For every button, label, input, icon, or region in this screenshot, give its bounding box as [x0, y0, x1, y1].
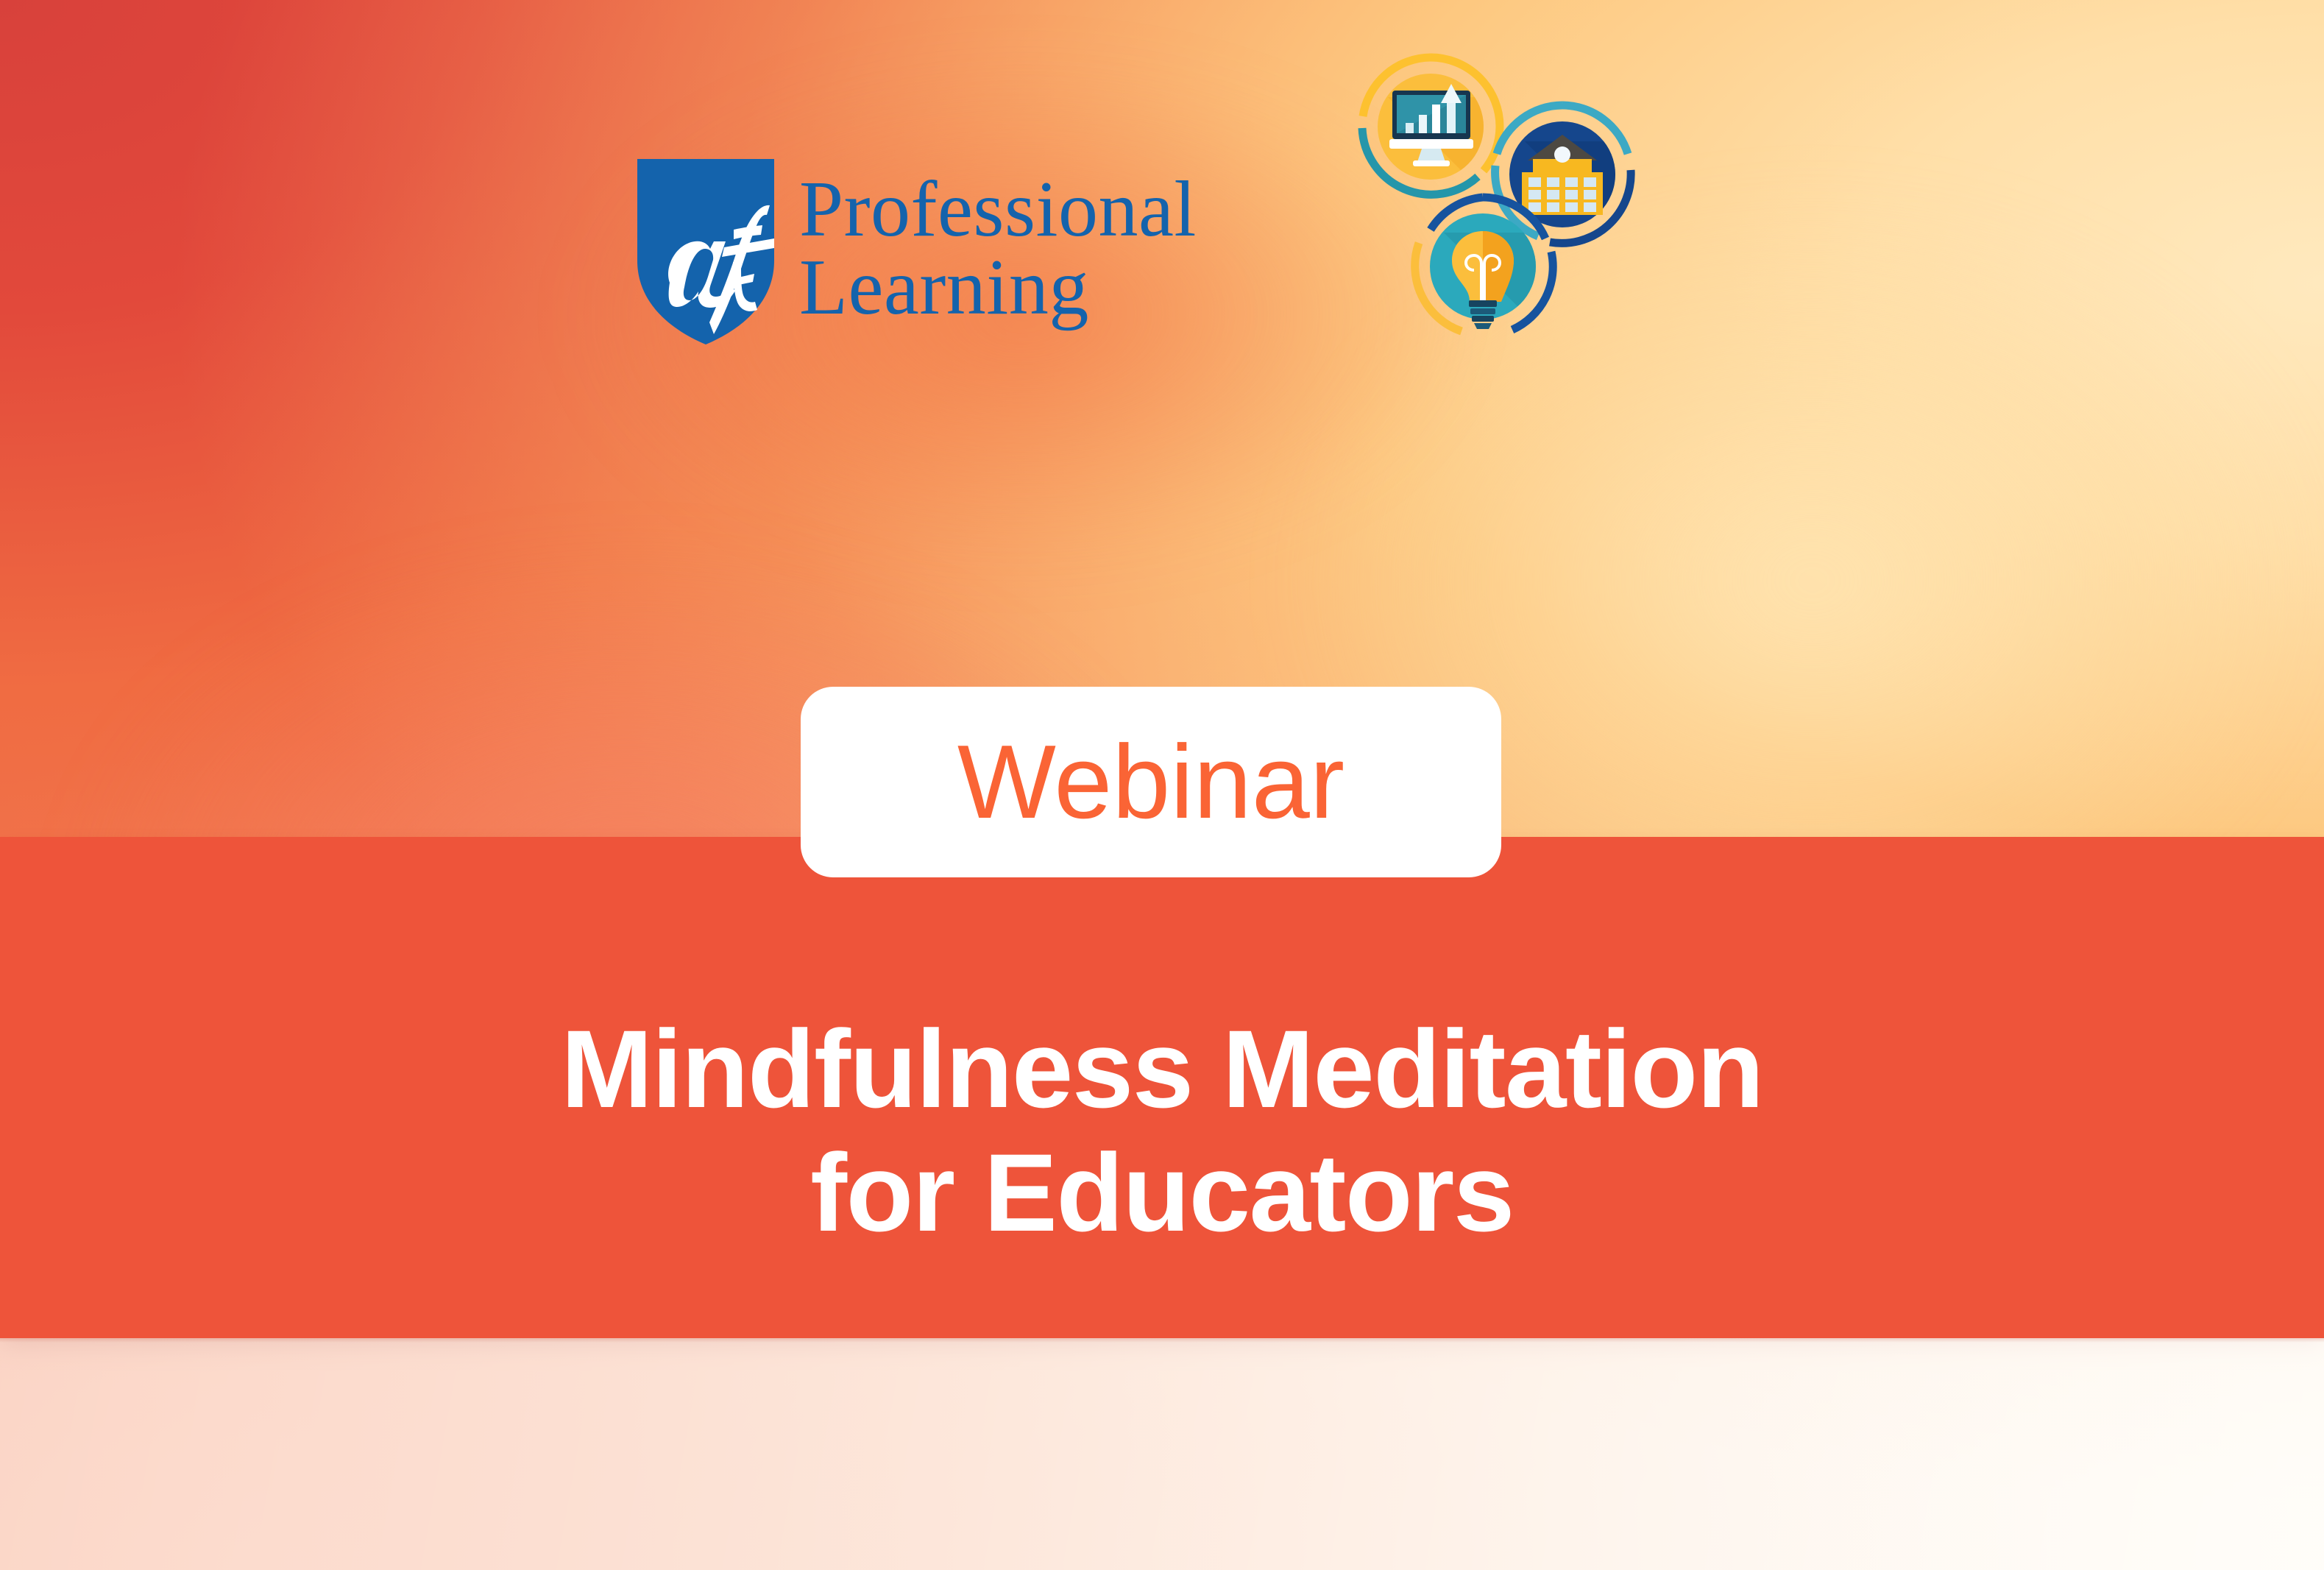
webinar-badge-label: Webinar [957, 730, 1345, 835]
title-line-1: Mindfulness Meditation [561, 1007, 1763, 1131]
wordmark-line-learning: Learning [799, 249, 1197, 327]
lightbulb-icon [1415, 197, 1554, 343]
webinar-promo-card: Professional Learning [0, 0, 2324, 1570]
title-band: Mindfulness Meditation for Educators [0, 837, 2324, 1338]
icon-cluster [1354, 46, 1648, 347]
title-line-2: for Educators [810, 1131, 1514, 1254]
webinar-badge: Webinar [801, 687, 1501, 877]
aft-shield-icon [637, 159, 774, 344]
aft-professional-learning-logo: Professional Learning [637, 159, 1197, 344]
bottom-light-wash [0, 1338, 2324, 1570]
wordmark-line-professional: Professional [799, 171, 1197, 249]
aft-wordmark: Professional Learning [799, 159, 1197, 327]
